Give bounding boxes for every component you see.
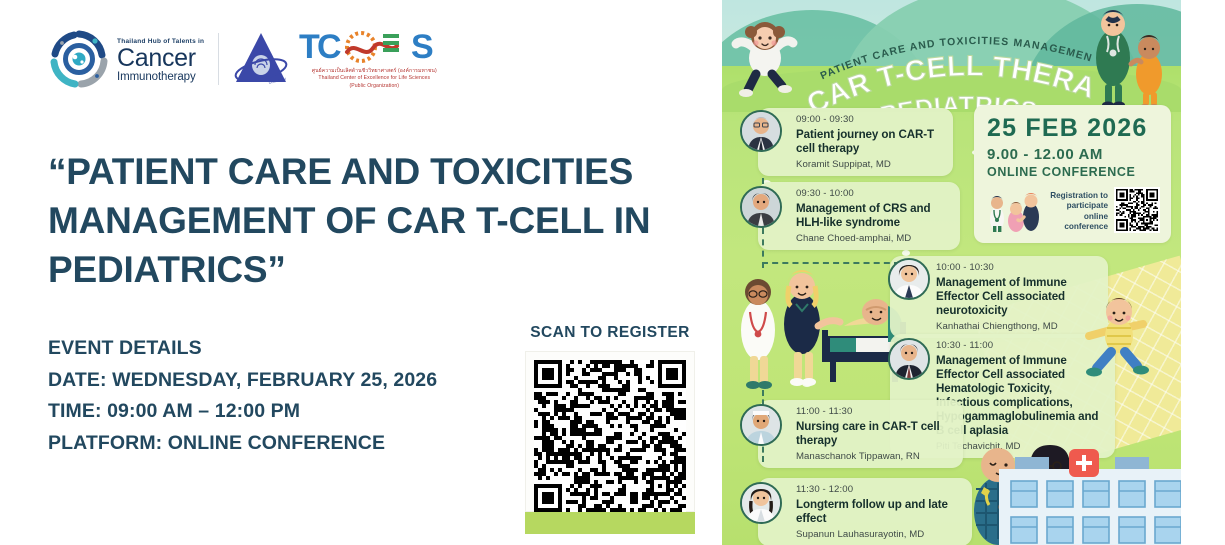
session-speaker: Manaschanok Tippawan, RN [796,451,954,462]
registration-note: Registration to participate online confe… [1045,191,1108,233]
page-title: “PATIENT CARE AND TOXICITIES MANAGEMENT … [48,148,708,294]
qr-code-icon[interactable] [534,360,686,512]
date-card: 25 FEB 2026 9.00 - 12.00 AM ONLINE CONFE… [974,105,1171,243]
scan-to-register-label: SCAN TO REGISTER [521,324,699,342]
hospital-building-illustration [985,441,1181,545]
speaker-avatar-manaschanok [740,404,782,446]
session-topic: Management of Immune Effector Cell assoc… [936,276,1099,318]
tcels-english-line: Thailand Center of Excellence for Life S… [318,75,430,82]
session-speaker: Supanun Lauhasurayotin, MD [796,529,963,540]
session-time: 11:30 - 12:00 [796,484,963,497]
event-banner: Thailand Hub of Talents in Cancer Immuno… [0,0,1225,545]
left-info-panel: Thailand Hub of Talents in Cancer Immuno… [0,0,722,545]
poster-time: 9.00 - 12.00 AM [987,146,1160,163]
bedside-care-illustration [726,252,906,390]
session-speaker: Kanhathai Chiengthong, MD [936,321,1099,332]
session-topic: Nursing care in CAR-T cell therapy [796,420,954,448]
session-card: 09:30 - 10:00 Management of CRS and HLH-… [758,182,960,250]
session-card: 11:00 - 11:30 Nursing care in CAR-T cell… [758,400,963,468]
session-topic: Patient journey on CAR-T cell therapy [796,128,944,156]
event-poster: PATIENT CARE AND TOXICITIES MANAGEMENT O… [722,0,1181,545]
session-time: 09:30 - 10:00 [796,188,951,201]
cancer-logo-name: Cancer [117,46,204,71]
doctor-and-family-illustration [987,193,1039,233]
tcels-thai-line: ศูนย์ความเป็นเลิศด้านชีววิทยาศาสตร์ (องค… [312,68,437,75]
cancer-immunotherapy-logo-icon [48,28,110,90]
qr-frame [525,351,695,512]
session-speaker: Koramit Suppipat, MD [796,159,944,170]
cancer-logo-sub: Immunotherapy [117,72,204,84]
session-time: 10:00 - 10:30 [936,262,1099,275]
poster-mode: ONLINE CONFERENCE [987,165,1160,179]
poster-date: 25 FEB 2026 [987,115,1160,143]
session-time: 09:00 - 09:30 [796,114,944,127]
speaker-avatar-supanun [740,482,782,524]
svg-text:S: S [411,28,434,66]
connector-line [762,262,900,264]
logo-row: Thailand Hub of Talents in Cancer Immuno… [48,28,449,90]
svg-text:C: C [317,28,342,66]
tcels-org-line: (Public Organization) [349,83,399,90]
nurse-and-child-illustration [1083,6,1179,110]
logo-divider [218,33,219,85]
qr-accent-bar [525,512,695,534]
qr-code-icon[interactable] [1114,187,1160,233]
child-jumping-illustration [728,14,800,100]
session-topic: Longterm follow up and late effect [796,498,963,526]
boy-running-illustration [1081,292,1159,380]
session-topic: Management of CRS and HLH-like syndrome [796,202,951,230]
tcels-wordmark-icon: T C S [299,28,449,68]
session-card: 09:00 - 09:30 Patient journey on CAR-T c… [758,108,953,176]
scan-to-register-block[interactable]: SCAN TO REGISTER [521,324,699,534]
session-speaker: Chane Choed-amphai, MD [796,233,951,244]
speaker-avatar-chane [740,186,782,228]
chulalongkorn-triangle-logo-icon: University [233,29,289,89]
session-card: 11:30 - 12:00 Longterm follow up and lat… [758,478,972,545]
speaker-avatar-kanhathai [888,258,930,300]
cancer-immunotherapy-logo: Thailand Hub of Talents in Cancer Immuno… [48,28,204,90]
tcels-logo: T C S ศูนย์ความเป็นเลิศด้านชีววิทยาศาสตร… [299,28,449,89]
session-time: 11:00 - 11:30 [796,406,954,419]
speaker-avatar-piti [888,338,930,380]
speaker-avatar-koramit [740,110,782,152]
